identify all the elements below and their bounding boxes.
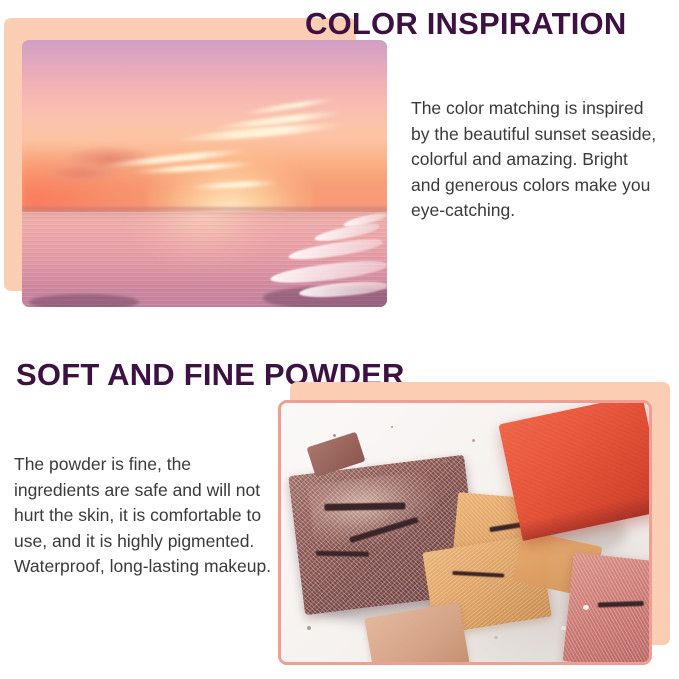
gold-shard-crack-2 (452, 571, 504, 578)
section-heading-color-inspiration: COLOR INSPIRATION (305, 6, 626, 42)
cloud-dark-2 (44, 165, 117, 181)
section-body-soft-and-fine-powder: The powder is fine, the ingredients are … (14, 452, 272, 580)
crushed-eyeshadow-powder-photo (278, 400, 652, 665)
product-feature-page: COLOR INSPIRATION The color matching is … (0, 0, 679, 679)
rose-chunk-crack (598, 601, 645, 608)
powder-crumb-2 (443, 460, 447, 463)
powder-crumb-5 (307, 626, 311, 630)
sunset-seaside-photo (22, 40, 387, 307)
powder-crumb-1 (333, 434, 336, 437)
powder-crumb-7 (583, 605, 589, 610)
dark-water-2 (29, 294, 139, 307)
powder-crumb-6 (561, 626, 566, 630)
plum-pan-crack-3 (315, 551, 368, 557)
eyeshadow-chunk-rose (563, 553, 652, 665)
section-body-color-inspiration: The color matching is inspired by the be… (411, 96, 661, 224)
